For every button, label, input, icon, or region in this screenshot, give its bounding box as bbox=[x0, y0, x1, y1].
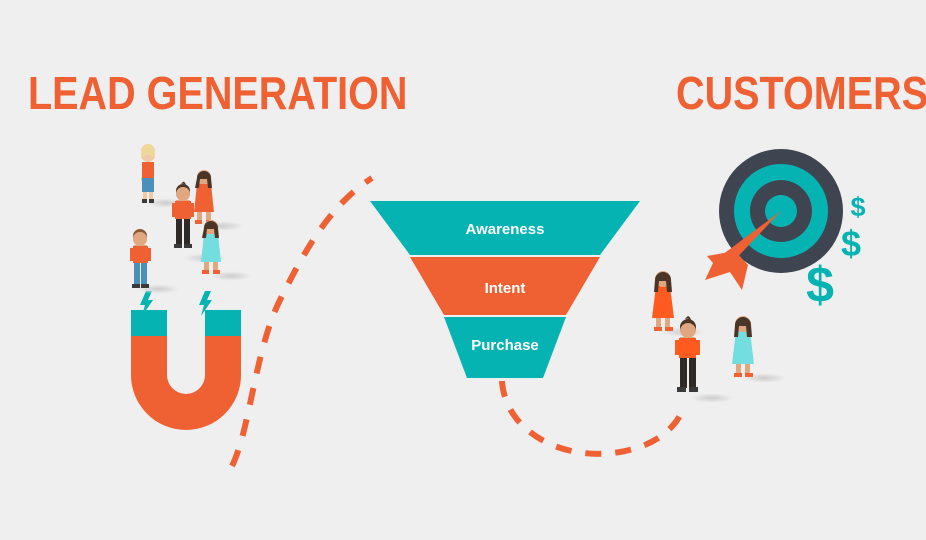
list-item-customer-person-1 bbox=[652, 271, 706, 337]
list-item-lead-person-4 bbox=[130, 229, 180, 294]
dollar-sign-icon-medium: $ bbox=[841, 223, 861, 264]
illustration-layer: $ $ $ bbox=[0, 0, 926, 540]
lead-people-group bbox=[130, 144, 253, 294]
magnet-pole-right bbox=[205, 310, 241, 336]
dashed-path-icon-left bbox=[232, 178, 372, 466]
list-item-customer-person-2 bbox=[675, 316, 735, 403]
dollar-sign-icon-small: $ bbox=[850, 192, 865, 222]
magnet-icon bbox=[131, 291, 241, 430]
customer-people-group bbox=[652, 271, 787, 403]
magnet-pole-left bbox=[131, 310, 167, 336]
list-item-customer-person-3 bbox=[732, 316, 787, 383]
funnel-label-purchase: Purchase bbox=[471, 337, 539, 354]
dollar-sign-icon-large: $ bbox=[806, 257, 834, 313]
infographic-canvas: LEAD GENERATION CUSTOMERS bbox=[0, 0, 926, 540]
funnel-label-intent: Intent bbox=[485, 280, 526, 297]
funnel-label-awareness: Awareness bbox=[466, 221, 545, 238]
dashed-path-icon-right bbox=[502, 381, 681, 454]
list-item-lead-person-2 bbox=[194, 170, 245, 231]
